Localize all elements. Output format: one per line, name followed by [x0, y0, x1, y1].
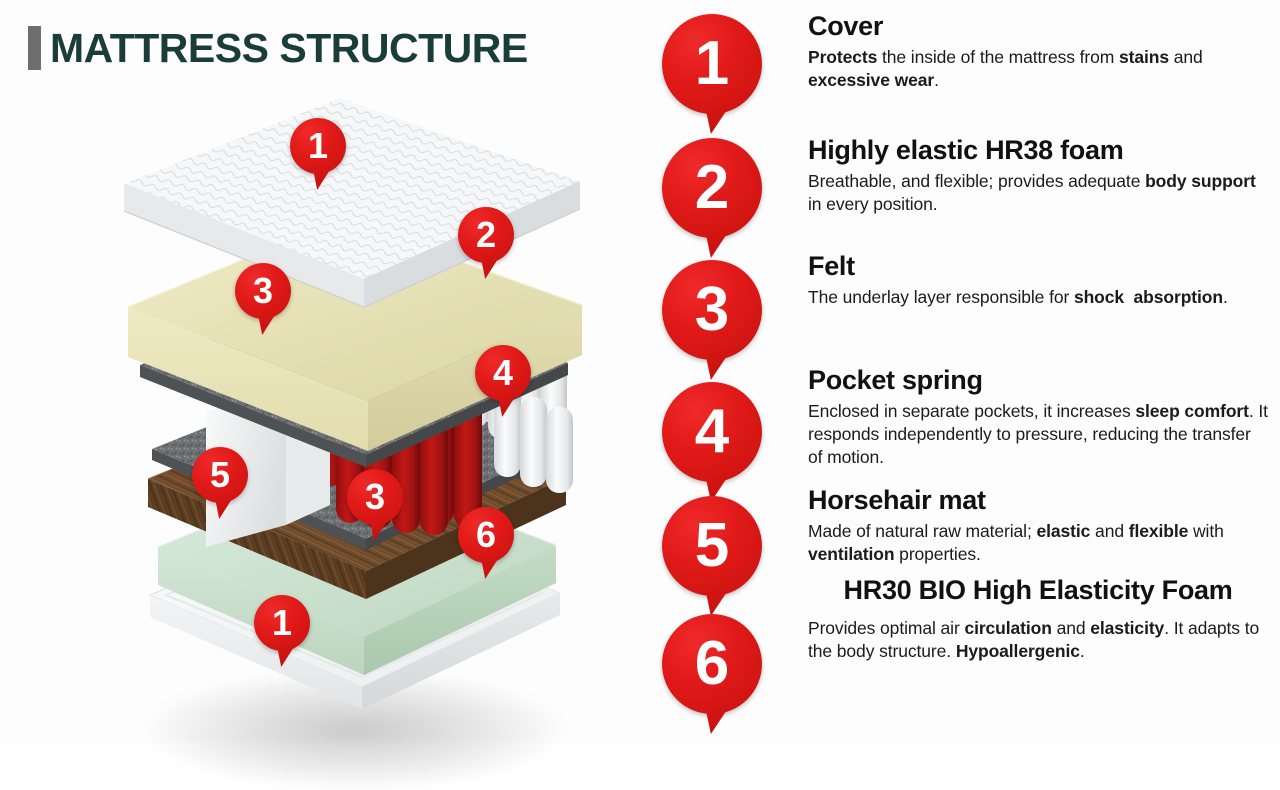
illustration-pin-2-hr38[interactable]: 2 — [458, 207, 514, 263]
layer-cover — [124, 97, 580, 307]
list-body-1: Protects the inside of the mattress from… — [808, 46, 1268, 93]
layer-hr38-foam — [128, 219, 582, 451]
illustration-pin-6-hr30[interactable]: 6 — [458, 507, 514, 563]
illustration-pin-5-horsehair[interactable]: 5 — [192, 447, 248, 503]
stack-shadow — [145, 670, 565, 790]
list-pin-3[interactable]: 3 — [662, 260, 762, 360]
list-body-4: Enclosed in separate pockets, it increas… — [808, 400, 1268, 470]
list-pin-1[interactable]: 1 — [662, 14, 762, 114]
list-body-5: Made of natural raw material; elastic an… — [808, 520, 1268, 567]
title-accent-bar — [28, 26, 41, 70]
list-heading-6: HR30 BIO High Elasticity Foam — [808, 576, 1268, 605]
illustration-pin-1-cover[interactable]: 1 — [290, 118, 346, 174]
illustration-pin-1-base[interactable]: 1 — [254, 595, 310, 651]
list-body-6: Provides optimal air circulation and ela… — [808, 617, 1268, 664]
list-pin-2[interactable]: 2 — [662, 138, 762, 238]
page-title: MATTRESS STRUCTURE — [28, 26, 528, 70]
list-body-2: Breathable, and flexible; provides adequ… — [808, 170, 1268, 217]
list-heading-1: Cover — [808, 12, 1268, 41]
list-pin-4[interactable]: 4 — [662, 382, 762, 482]
list-pin-5[interactable]: 5 — [662, 496, 762, 596]
list-heading-2: Highly elastic HR38 foam — [808, 136, 1268, 165]
list-heading-3: Felt — [808, 252, 1268, 281]
illustration-pin-3-felt-lower[interactable]: 3 — [347, 469, 403, 525]
list-heading-4: Pocket spring — [808, 366, 1268, 395]
list-pin-6[interactable]: 6 — [662, 614, 762, 714]
list-body-3: The underlay layer responsible for shock… — [808, 286, 1268, 309]
list-heading-5: Horsehair mat — [808, 486, 1268, 515]
illustration-pin-4-pocket-spring[interactable]: 4 — [475, 345, 531, 401]
mattress-exploded-illustration: 1 2 3 4 5 3 6 1 — [90, 95, 610, 735]
layer-description-list: 1 Cover Protects the inside of the mattr… — [655, 0, 1280, 743]
mattress-layers-svg — [90, 95, 610, 735]
title-text: MATTRESS STRUCTURE — [50, 28, 528, 69]
illustration-pin-3-felt-upper[interactable]: 3 — [235, 263, 291, 319]
